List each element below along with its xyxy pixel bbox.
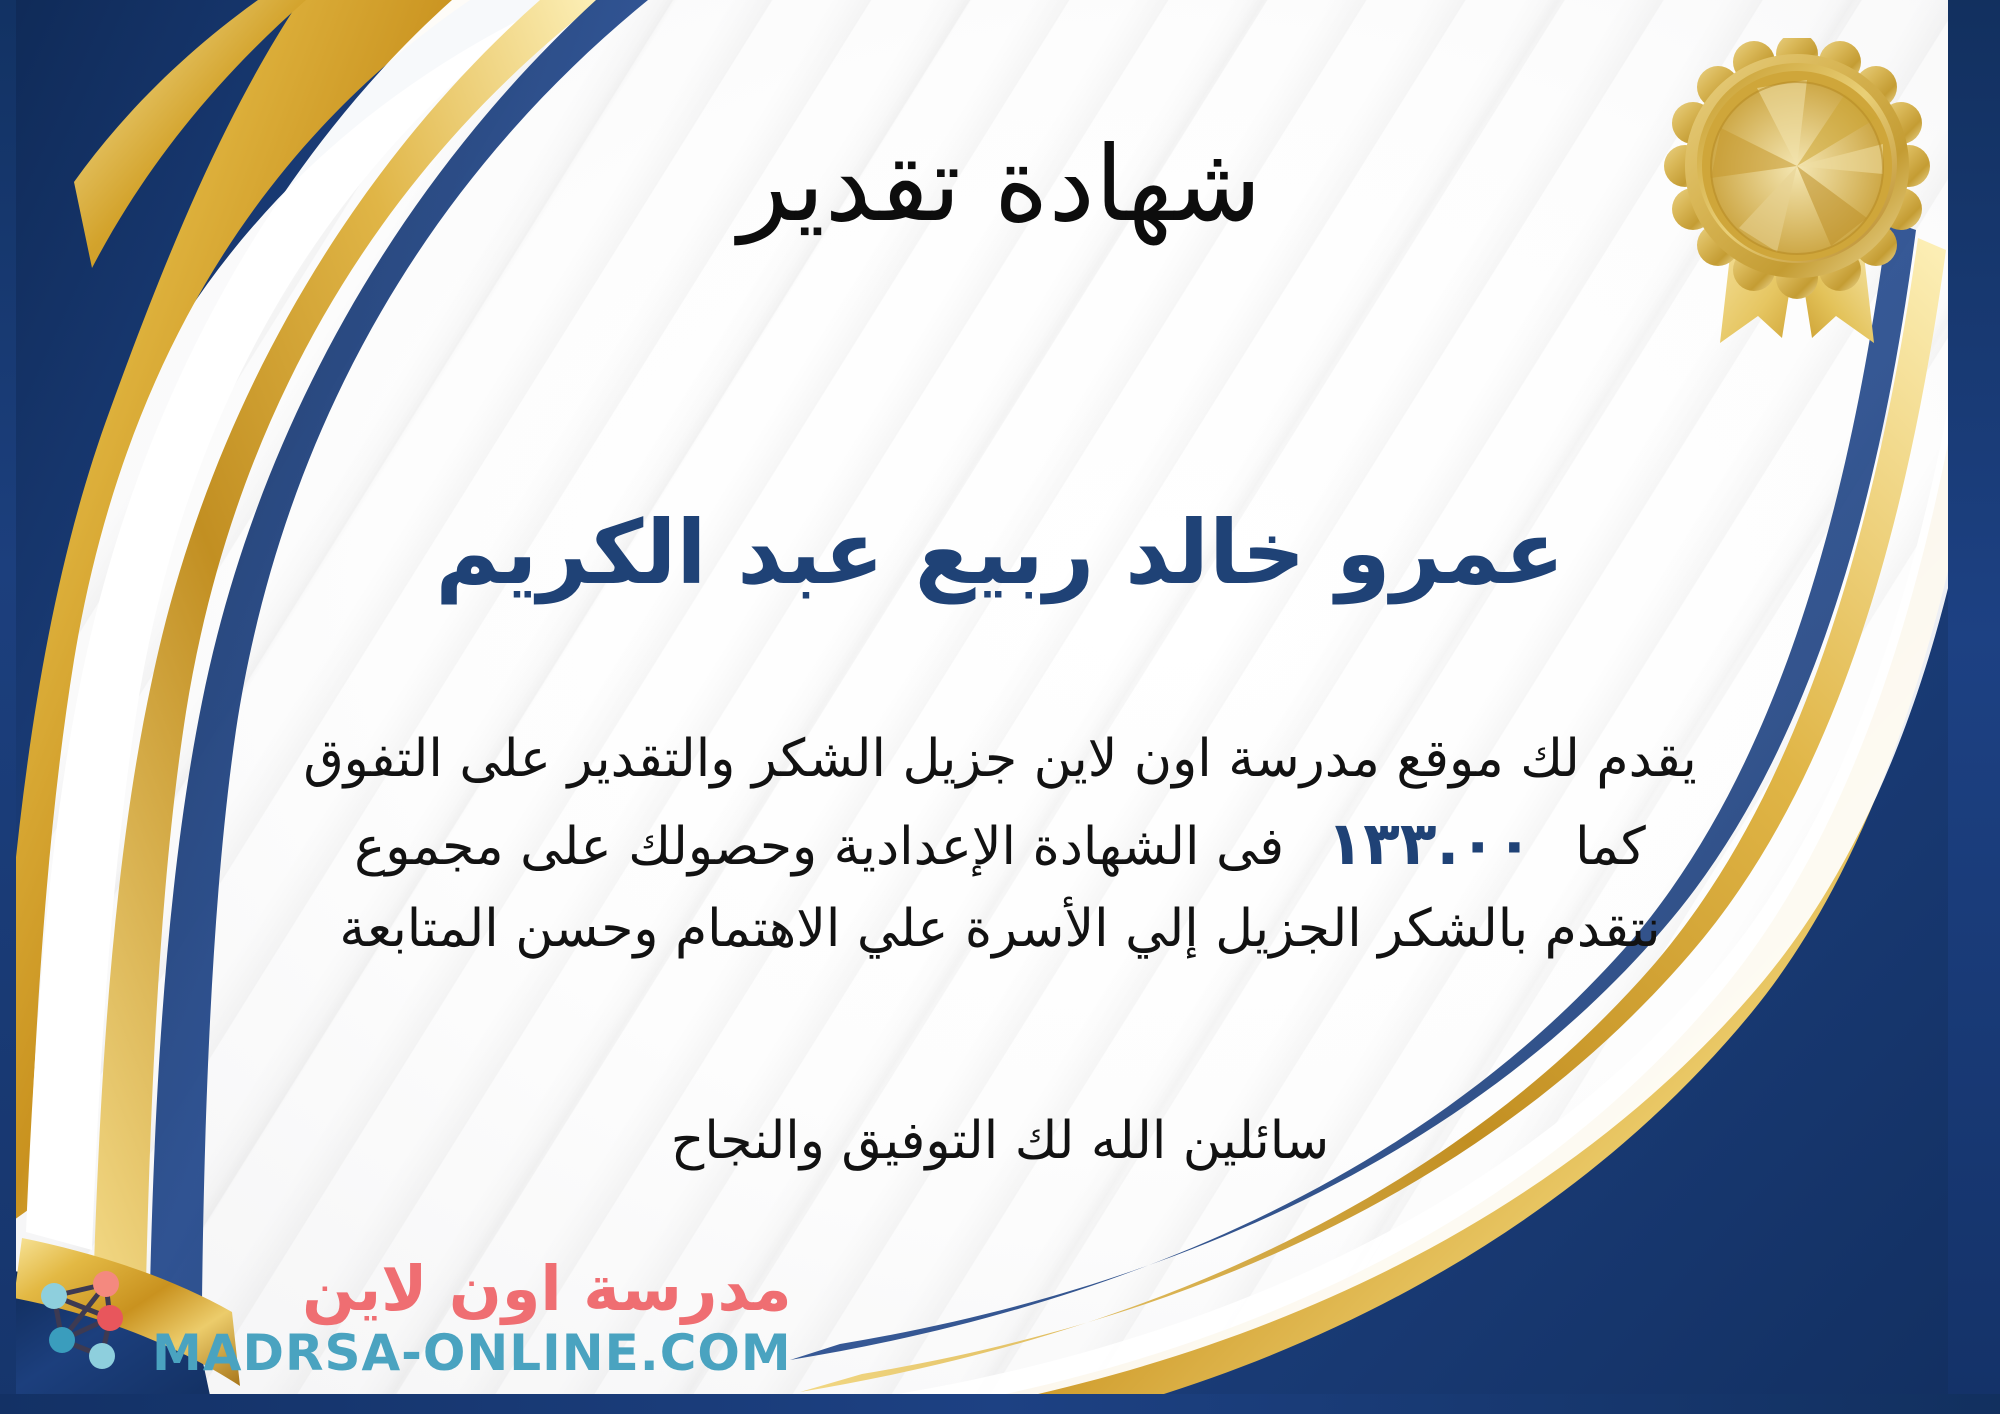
certificate-content: شهادة تقدير عمرو خالد ربيع عبد الكريم يق…: [0, 0, 2000, 1414]
certificate-body: يقدم لك موقع مدرسة اون لاين جزيل الشكر و…: [60, 720, 1940, 969]
grade-total-value: ١٣٣.٠٠: [1301, 809, 1559, 879]
brand-logo[interactable]: مدرسة اون لاين MADRSA-ONLINE.COM: [28, 1258, 792, 1378]
page-edge-left: [0, 0, 16, 1414]
body-line-1: يقدم لك موقع مدرسة اون لاين جزيل الشكر و…: [60, 720, 1940, 799]
closing-wish-text: سائلين الله لك التوفيق والنجاح: [0, 1105, 2000, 1178]
body-line-2-prefix: كما: [1575, 817, 1646, 877]
brand-arabic-name: مدرسة اون لاين: [302, 1258, 792, 1320]
network-nodes-icon: [28, 1262, 140, 1374]
recipient-name: عمرو خالد ربيع عبد الكريم: [0, 505, 2000, 602]
body-line-2-suffix: فى الشهادة الإعدادية وحصولك على مجموع: [354, 817, 1284, 877]
page-title: شهادة تقدير: [0, 130, 2000, 239]
brand-text-block: مدرسة اون لاين MADRSA-ONLINE.COM: [152, 1258, 792, 1378]
brand-website-url[interactable]: MADRSA-ONLINE.COM: [152, 1328, 792, 1378]
page-edge-right: [1948, 0, 2000, 1414]
body-line-2: كما ١٣٣.٠٠ فى الشهادة الإعدادية وحصولك ع…: [60, 799, 1940, 890]
certificate-page: شهادة تقدير عمرو خالد ربيع عبد الكريم يق…: [0, 0, 2000, 1414]
body-line-3: نتقدم بالشكر الجزيل إلي الأسرة علي الاهت…: [60, 890, 1940, 969]
page-edge-bottom: [0, 1394, 2000, 1414]
